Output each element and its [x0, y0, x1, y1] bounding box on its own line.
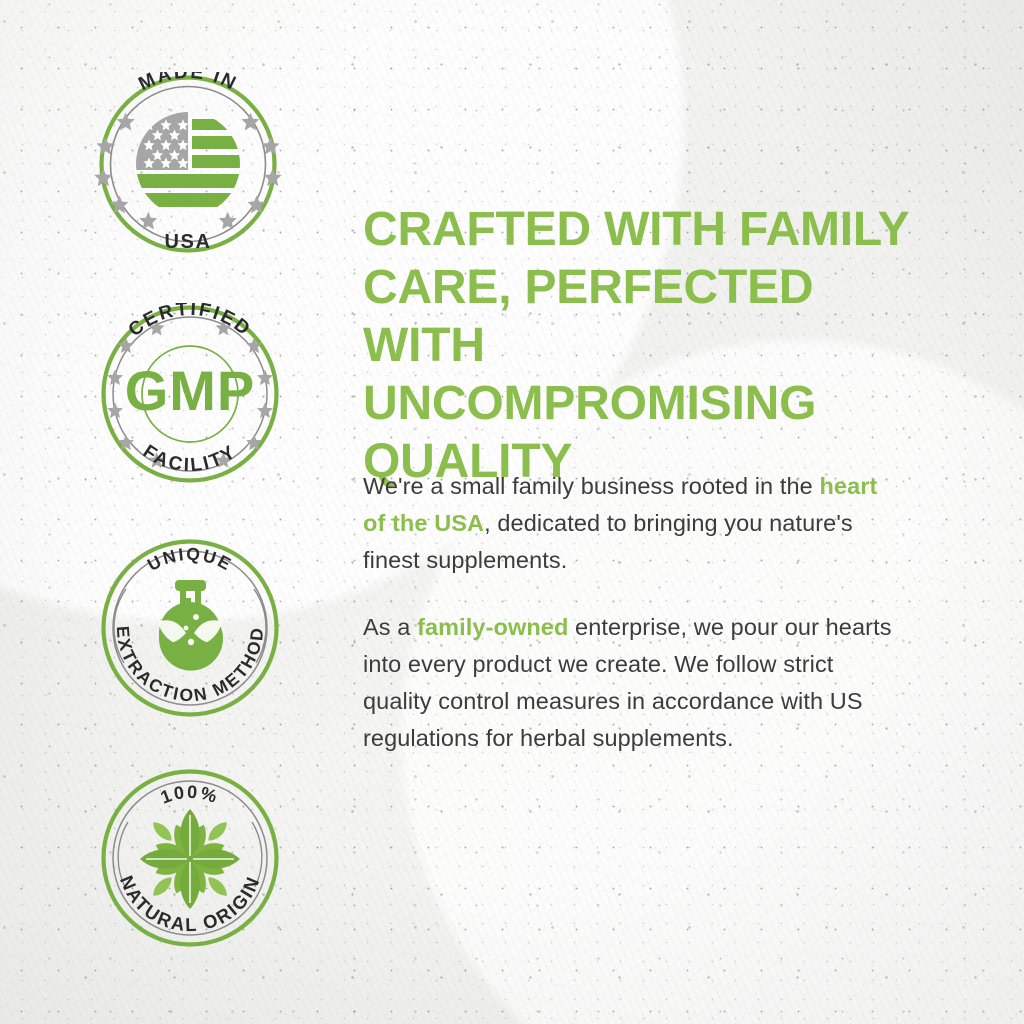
paragraph-text: We're a small family business rooted in … — [363, 473, 819, 499]
badge-center-label: GMP — [125, 359, 256, 422]
paragraph: We're a small family business rooted in … — [363, 468, 893, 579]
leaf-rosette-icon — [140, 809, 240, 909]
body-copy: We're a small family business rooted in … — [363, 468, 893, 757]
text-content: CRAFTED WITH FAMILY CARE, PERFECTED WITH… — [360, 0, 960, 1024]
headline: CRAFTED WITH FAMILY CARE, PERFECTED WITH… — [363, 201, 943, 491]
badge-natural-origin: 100% NATURAL ORIGIN — [0, 767, 340, 957]
emphasis-text: family-owned — [417, 614, 568, 640]
badge-gmp-certified: CERTIFIED GMP FACILITY — [0, 303, 340, 493]
usa-flag-circle-icon — [134, 112, 244, 216]
badge-top-label: 100% — [158, 782, 222, 808]
badge-bottom-label: USA — [164, 231, 211, 253]
paragraph: As a family-owned enterprise, we pour ou… — [363, 609, 893, 757]
badge-top-label: MADE IN — [135, 72, 240, 95]
trust-badge-column: MADE IN USA — [0, 0, 330, 1024]
badge-made-in-usa: MADE IN USA — [0, 72, 340, 262]
promo-banner: MADE IN USA — [0, 0, 1024, 1024]
badge-unique-extraction-method: UNIQUE EXTRACTION METHOD — [0, 537, 340, 727]
paragraph-text: As a — [363, 614, 417, 640]
